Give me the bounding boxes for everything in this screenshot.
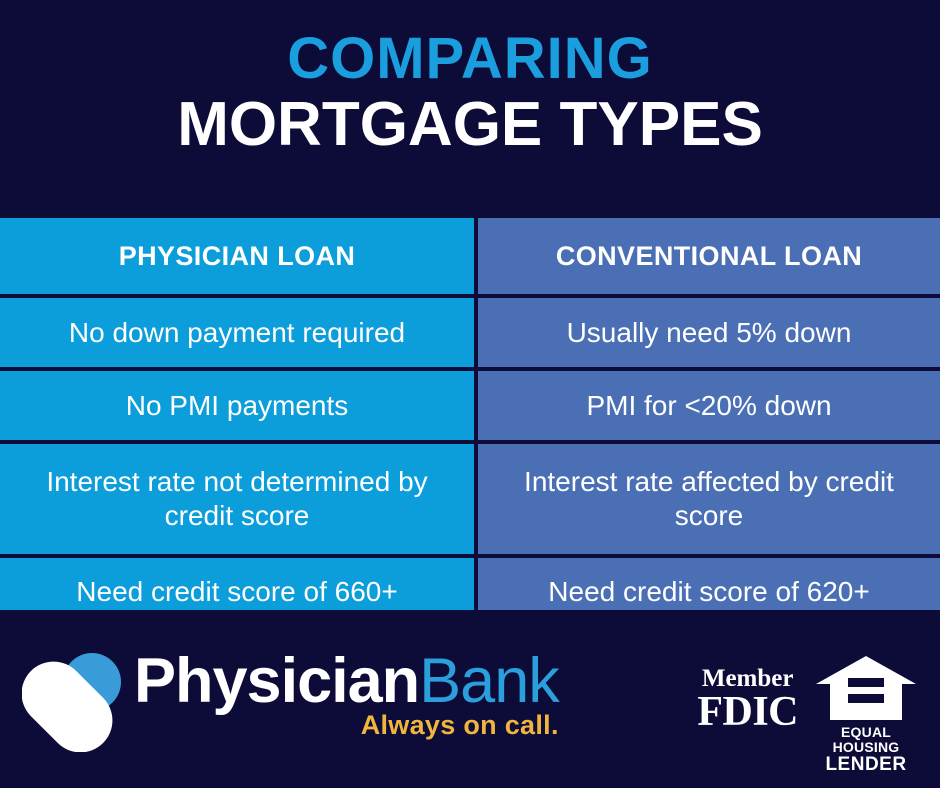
cell-physician-interest-rate-text: Interest rate not determined by credit s… <box>10 465 464 533</box>
cell-conventional-credit-score-text: Need credit score of 620+ <box>548 575 869 609</box>
table-row: No down payment required Usually need 5%… <box>0 298 940 367</box>
cell-physician-pmi: No PMI payments <box>0 371 478 440</box>
cell-conventional-interest-rate: Interest rate affected by credit score <box>478 444 940 554</box>
cell-physician-down-payment: No down payment required <box>0 298 478 367</box>
brand-name-bank: Bank <box>419 646 559 716</box>
equal-housing-line2: LENDER <box>814 755 918 775</box>
comparison-table: PHYSICIAN LOAN CONVENTIONAL LOAN No down… <box>0 218 940 610</box>
brand-lockup: PhysicianBank Always on call. <box>22 648 559 752</box>
column-header-physician-loan: PHYSICIAN LOAN <box>0 218 478 294</box>
equal-housing-lender-badge: EQUAL HOUSING LENDER <box>814 654 918 775</box>
cell-physician-credit-score-text: Need credit score of 660+ <box>76 575 397 609</box>
equal-housing-line1: EQUAL HOUSING <box>814 725 918 755</box>
column-header-conventional-loan-label: CONVENTIONAL LOAN <box>556 241 862 272</box>
table-row: Interest rate not determined by credit s… <box>0 444 940 554</box>
cell-conventional-down-payment-text: Usually need 5% down <box>567 316 852 350</box>
infographic-page: COMPARING MORTGAGE TYPES PHYSICIAN LOAN … <box>0 0 940 788</box>
cell-conventional-pmi-text: PMI for <20% down <box>586 389 831 423</box>
compliance-badges: Member FDIC EQUAL HOUSING LENDER <box>697 654 918 775</box>
cell-physician-interest-rate: Interest rate not determined by credit s… <box>0 444 478 554</box>
title-line-mortgage-types: MORTGAGE TYPES <box>0 92 940 158</box>
page-title: COMPARING MORTGAGE TYPES <box>0 28 940 158</box>
title-line-comparing: COMPARING <box>0 28 940 90</box>
column-header-physician-loan-label: PHYSICIAN LOAN <box>119 241 356 272</box>
column-header-conventional-loan: CONVENTIONAL LOAN <box>478 218 940 294</box>
table-header-row: PHYSICIAN LOAN CONVENTIONAL LOAN <box>0 218 940 294</box>
cell-physician-pmi-text: No PMI payments <box>126 389 349 423</box>
member-fdic-label: FDIC <box>697 691 798 733</box>
cell-conventional-down-payment: Usually need 5% down <box>478 298 940 367</box>
brand-wordmark: PhysicianBank Always on call. <box>134 648 559 741</box>
member-fdic-badge: Member FDIC <box>697 666 798 733</box>
cell-conventional-pmi: PMI for <20% down <box>478 371 940 440</box>
cell-physician-down-payment-text: No down payment required <box>69 316 405 350</box>
cell-conventional-interest-rate-text: Interest rate affected by credit score <box>488 465 930 533</box>
brand-name: PhysicianBank <box>134 648 559 714</box>
member-fdic-member-label: Member <box>697 666 798 691</box>
table-row: No PMI payments PMI for <20% down <box>0 371 940 440</box>
heart-logo-icon <box>22 652 126 752</box>
equal-housing-house-icon <box>814 654 918 725</box>
brand-name-physician: Physician <box>134 646 419 716</box>
footer: PhysicianBank Always on call. Member FDI… <box>0 610 940 788</box>
